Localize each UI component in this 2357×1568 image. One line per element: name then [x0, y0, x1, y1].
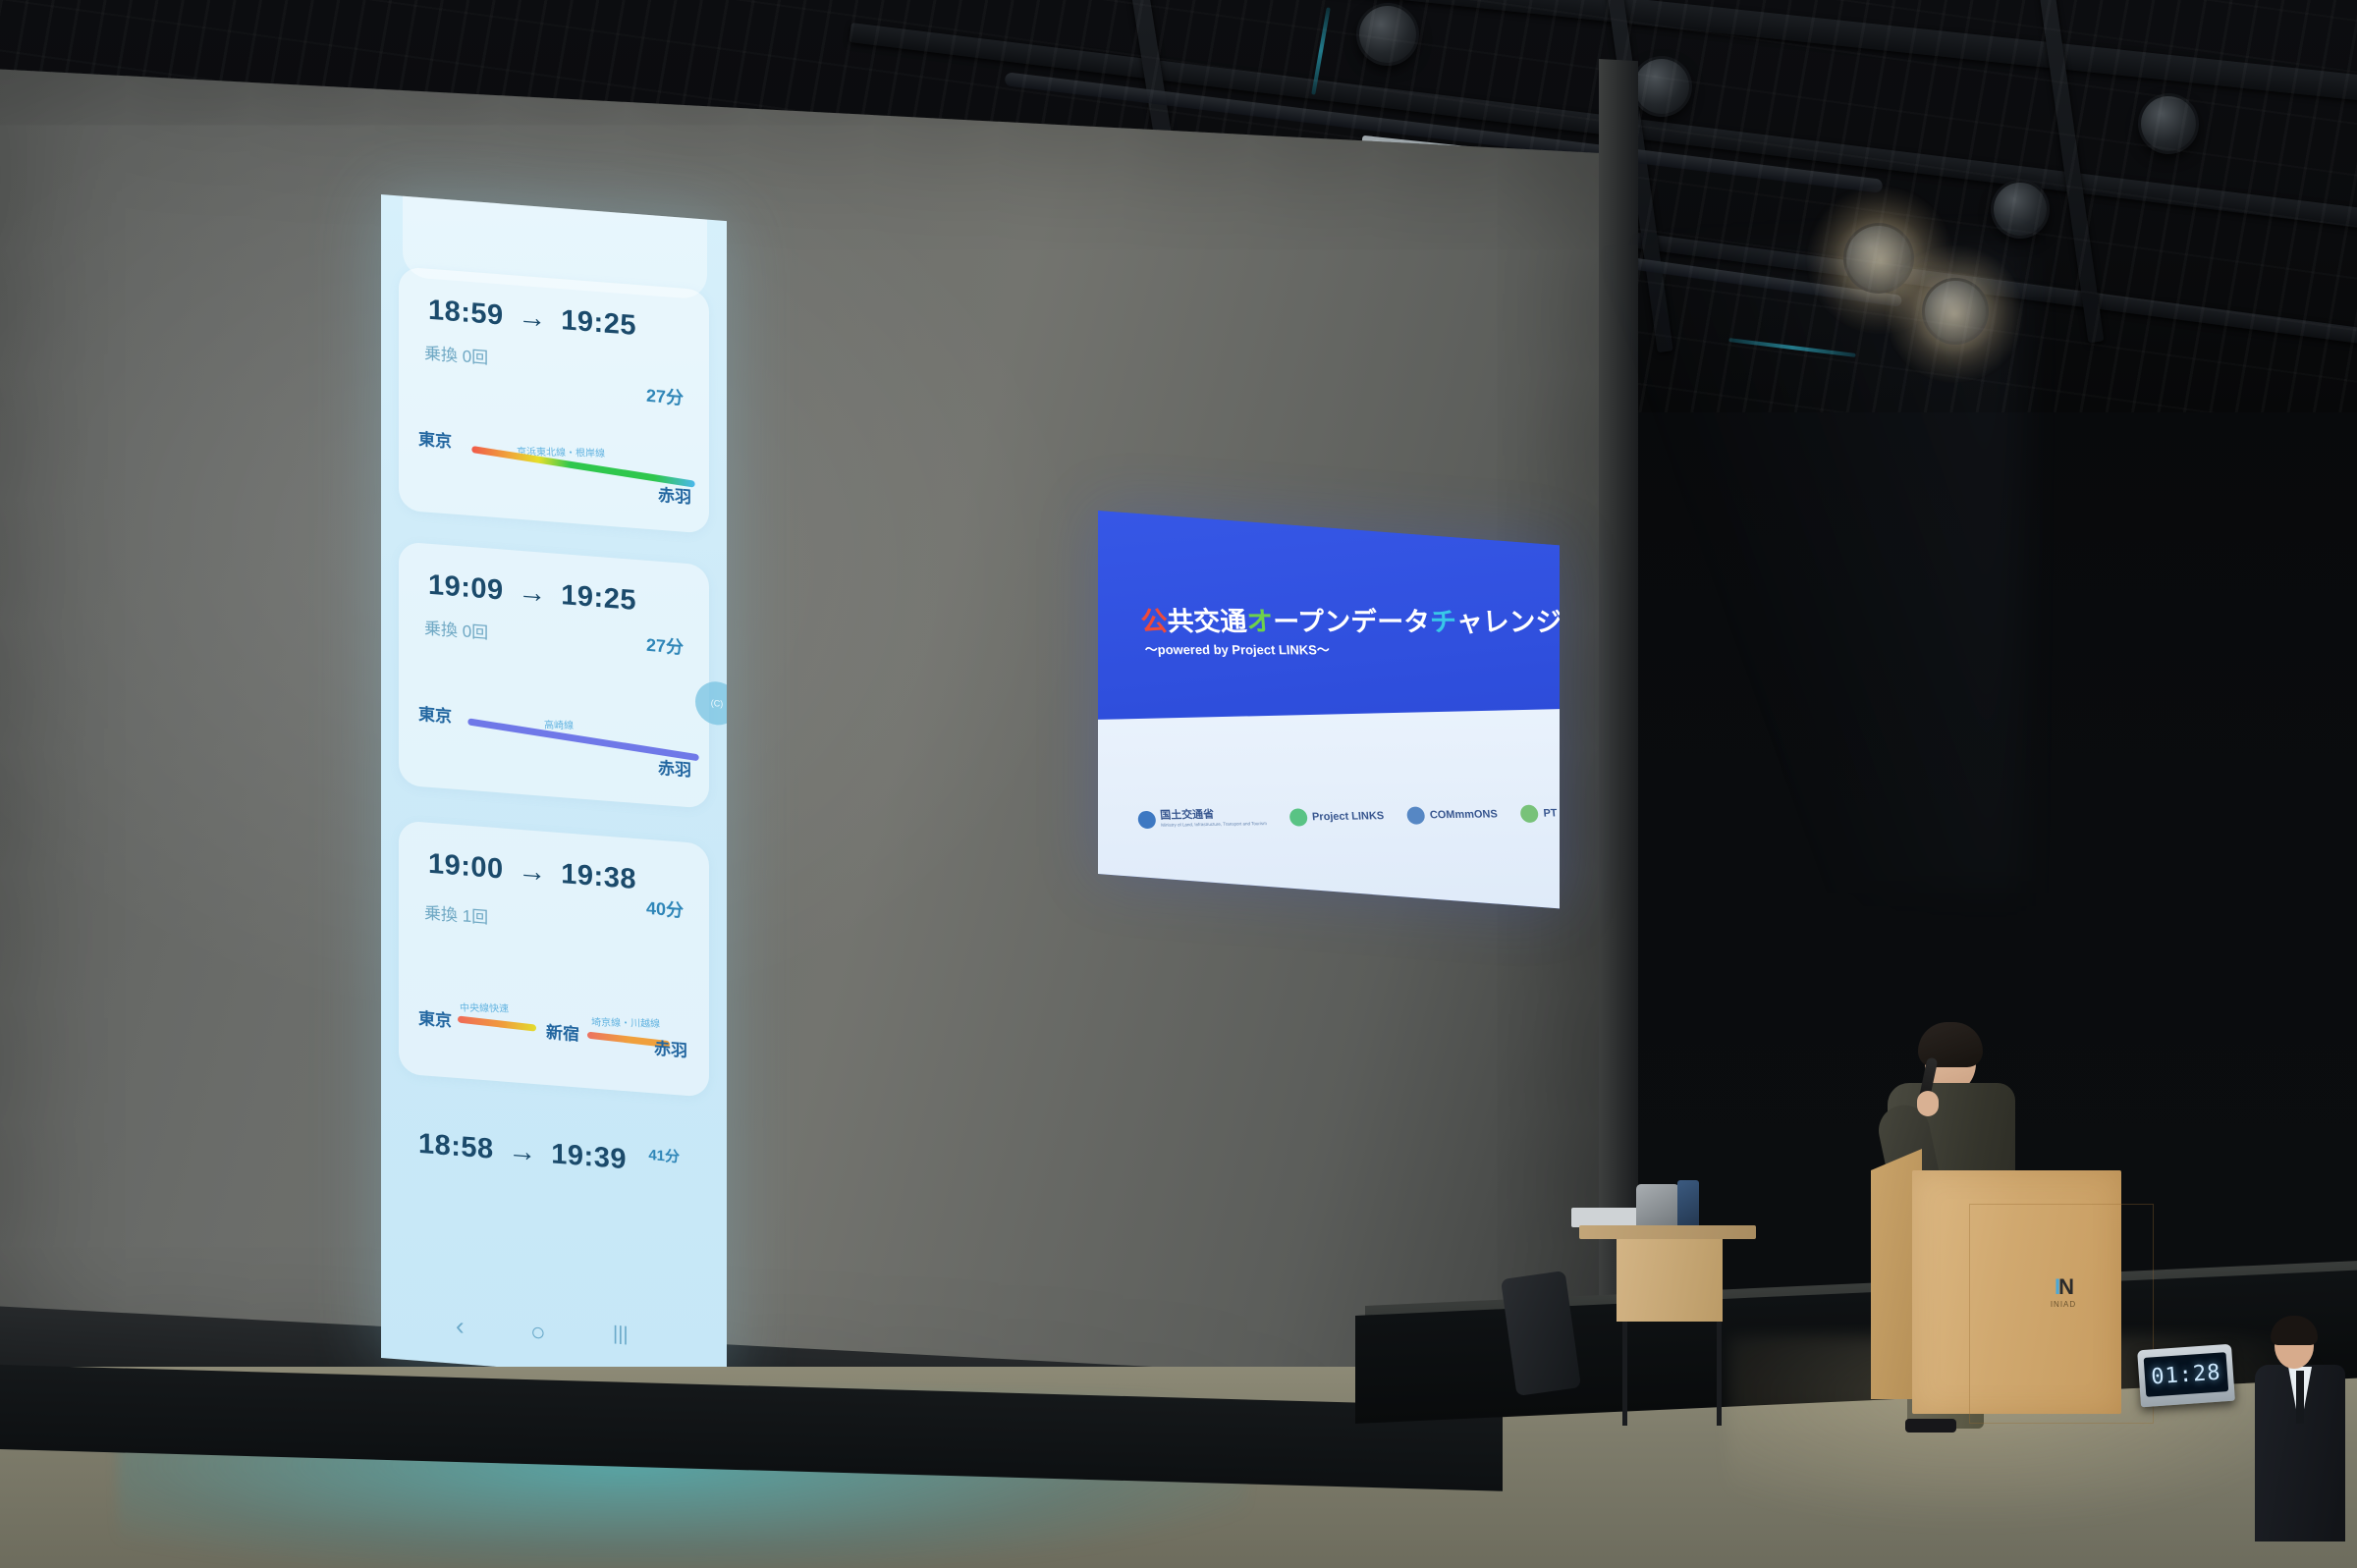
route-card-partial[interactable]: 18:58 → 19:39 41分	[399, 1108, 709, 1299]
table-leg	[1622, 1322, 1627, 1426]
station-from: 東京	[418, 1004, 452, 1032]
title-segment: ャレンジ	[1455, 607, 1560, 636]
arrow-icon: →	[512, 575, 553, 610]
title-segment: オ	[1245, 607, 1274, 636]
stage-light	[1634, 59, 1689, 114]
route-times: 19:00 → 19:38	[428, 848, 636, 896]
led-strip	[1311, 7, 1331, 94]
equipment-box	[1677, 1180, 1699, 1231]
slide-subtitle: ～powered by Project LINKS～	[1144, 639, 1535, 659]
stage-light	[1994, 183, 2047, 236]
title-segment: 共交通	[1166, 607, 1247, 636]
iniad-logo-mark: IN	[2038, 1276, 2089, 1298]
station-via: 新宿	[546, 1018, 579, 1046]
title-segment: ープンデータ	[1272, 607, 1431, 636]
equipment-box	[1636, 1184, 1679, 1231]
depart-time: 18:58	[418, 1128, 494, 1165]
route-times: 18:58 → 19:39	[418, 1128, 627, 1176]
depart-time: 19:00	[428, 848, 504, 886]
arrive-time: 19:38	[561, 858, 636, 895]
right-projection-title-slide: 公共交通オープンデータチャレンジ2025 ～powered by Project…	[1098, 511, 1560, 908]
sponsor-logo-mark	[1137, 811, 1157, 829]
route-leg-diagram: 東京 高崎線 赤羽	[418, 700, 691, 784]
sponsor-logo-name: Project LINKS	[1312, 811, 1385, 823]
presenter-shoe	[1905, 1419, 1956, 1433]
transfer-count: 乗換 0回	[424, 614, 488, 643]
timer-value: 01:28	[2151, 1360, 2222, 1389]
title-segment: チ	[1429, 607, 1457, 636]
line-name: 中央線快速	[460, 1000, 510, 1015]
station-to: 赤羽	[654, 1034, 687, 1061]
duration: 40分	[646, 894, 684, 923]
projector-beam	[1512, 245, 2023, 893]
station-from: 東京	[418, 700, 452, 728]
route-times: 18:59 → 19:25	[428, 295, 636, 343]
duration: 27分	[646, 631, 684, 660]
title-segment: 公	[1140, 607, 1169, 636]
table-leg	[1717, 1322, 1722, 1426]
stage-photo: 18:59 → 19:25 乗換 0回 27分 東京 京浜東北線・根岸線 赤羽 …	[0, 0, 2357, 1568]
attendee-tie	[2296, 1371, 2304, 1424]
transfer-count: 乗換 1回	[424, 898, 488, 928]
home-icon[interactable]: ○	[530, 1317, 546, 1348]
timer-screen: 01:28	[2144, 1352, 2229, 1397]
route-card[interactable]: 19:00 → 19:38 40分 乗換 1回 東京 中央線快速 新宿 埼京線・…	[399, 820, 709, 1097]
left-projection-phone-screenshot: 18:59 → 19:25 乗換 0回 27分 東京 京浜東北線・根岸線 赤羽 …	[381, 194, 727, 1384]
congestion-bar	[458, 1015, 536, 1031]
arrow-icon: →	[512, 854, 553, 889]
recents-icon[interactable]: |||	[613, 1323, 629, 1346]
line-name: 高崎線	[544, 717, 575, 732]
slide-title-block: 公共交通オープンデータチャレンジ2025 ～powered by Project…	[1140, 609, 1536, 659]
depart-time: 18:59	[428, 295, 504, 332]
station-from: 東京	[418, 425, 452, 453]
arrive-time: 19:39	[551, 1138, 627, 1175]
station-to: 赤羽	[658, 481, 691, 509]
arrive-time: 19:25	[561, 579, 636, 617]
table-top	[1579, 1225, 1756, 1239]
line-name: 埼京線・川越線	[591, 1013, 661, 1030]
duration: 41分	[648, 1144, 680, 1166]
stage-light	[1359, 6, 1416, 63]
route-card[interactable]: 19:09 → 19:25 乗換 0回 27分 東京 高崎線 赤羽	[399, 541, 709, 808]
attendee-person	[2249, 1314, 2357, 1540]
sponsor-logo: PT	[1520, 804, 1559, 823]
sponsor-logo-mark	[1520, 805, 1540, 823]
sponsor-logo-name: 国土交通省Ministry of Land, Infrastructure, T…	[1160, 809, 1267, 828]
podium-front: IN INIAD	[1912, 1170, 2121, 1414]
podium-panel	[1969, 1204, 2154, 1424]
sponsor-logo-mark	[1288, 808, 1308, 826]
papers-stack	[1571, 1208, 1646, 1227]
presenter-hand	[1917, 1091, 1939, 1116]
podium: IN INIAD	[1871, 1149, 2121, 1414]
sponsor-logo-name: PT	[1543, 808, 1558, 819]
attendee-hair	[2271, 1316, 2318, 1345]
arrow-icon: →	[512, 300, 553, 335]
route-leg-diagram: 東京 京浜東北線・根岸線 赤羽	[418, 425, 691, 509]
iniad-logo-text: INIAD	[2038, 1300, 2089, 1309]
sponsor-logo: Project LINKS	[1288, 807, 1385, 827]
side-table	[1579, 1225, 1756, 1373]
slide-title: 公共交通オープンデータチャレンジ2025	[1140, 609, 1534, 636]
transfer-count: 乗換 0回	[424, 339, 488, 368]
iniad-logo: IN INIAD	[2038, 1276, 2089, 1309]
table-drawer	[1617, 1239, 1723, 1322]
arrive-time: 19:25	[561, 304, 636, 342]
sponsor-logo: 国土交通省Ministry of Land, Infrastructure, T…	[1137, 809, 1267, 829]
depart-time: 19:09	[428, 569, 504, 607]
station-to: 赤羽	[658, 754, 691, 782]
back-icon[interactable]: ‹	[456, 1311, 465, 1342]
route-times: 19:09 → 19:25	[428, 569, 636, 618]
sponsor-logo-name: COMmmONS	[1429, 809, 1498, 821]
route-card[interactable]: 18:59 → 19:25 乗換 0回 27分 東京 京浜東北線・根岸線 赤羽	[399, 266, 709, 533]
stage-light	[2141, 96, 2196, 151]
arrow-icon: →	[502, 1134, 543, 1168]
duration: 27分	[646, 382, 684, 410]
route-leg-diagram: 東京 中央線快速 新宿 埼京線・川越線 赤羽	[418, 983, 691, 1066]
sponsor-logo: COMmmONS	[1406, 805, 1498, 824]
countdown-timer-device[interactable]: 01:28	[2137, 1344, 2235, 1408]
sponsor-logo-mark	[1406, 806, 1426, 824]
